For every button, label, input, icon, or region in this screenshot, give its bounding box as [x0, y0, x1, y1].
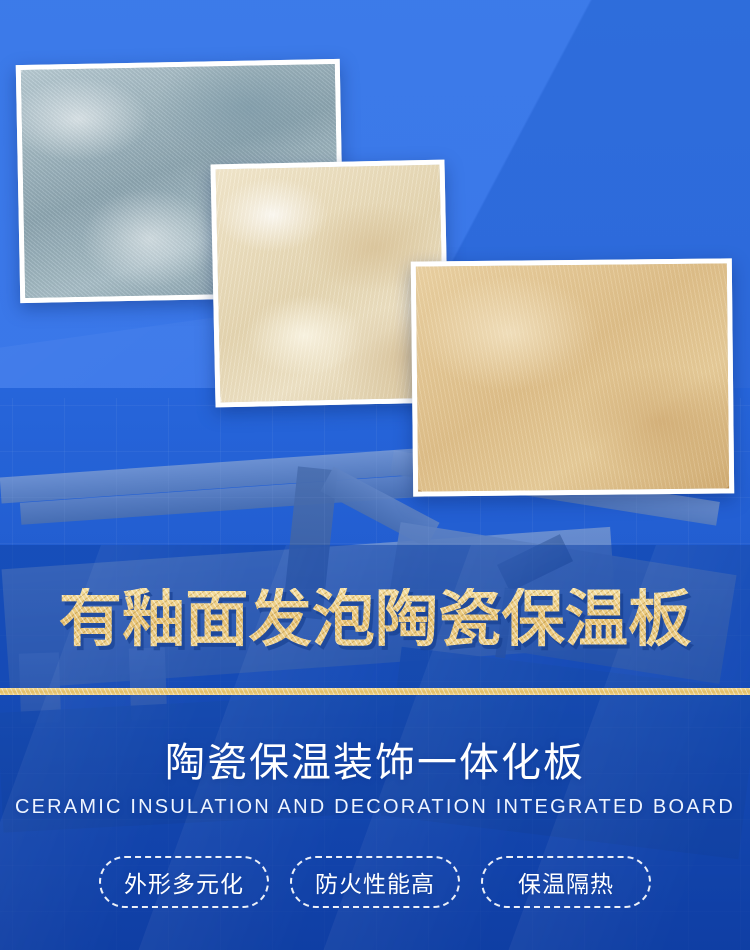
headline-block: 有釉面发泡陶瓷保温板 [0, 588, 750, 650]
main-title: 有釉面发泡陶瓷保温板 [59, 588, 691, 650]
tile-texture [416, 263, 729, 491]
feature-badge-list: 外形多元化 防火性能高 保温隔热 [0, 856, 750, 908]
tile-sample-tan-marble[interactable] [411, 258, 734, 496]
feature-badge-shape-diversity[interactable]: 外形多元化 [99, 856, 269, 908]
feature-badge-thermal-insulation[interactable]: 保温隔热 [481, 856, 651, 908]
gold-divider [0, 688, 750, 695]
feature-badge-fire-resistance[interactable]: 防火性能高 [290, 856, 460, 908]
subtitle-english: CERAMIC INSULATION AND DECORATION INTEGR… [0, 796, 750, 819]
subtitle-chinese: 陶瓷保温装饰一体化板 [0, 740, 750, 786]
product-promo-banner: 有釉面发泡陶瓷保温板 陶瓷保温装饰一体化板 CERAMIC INSULATION… [0, 0, 750, 950]
